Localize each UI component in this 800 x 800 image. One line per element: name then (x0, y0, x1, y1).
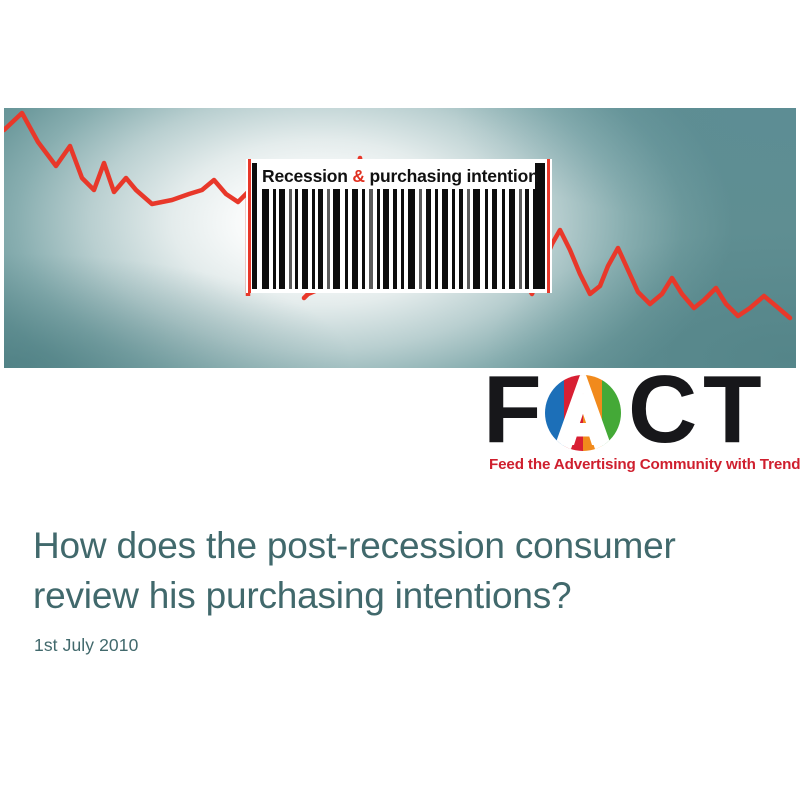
barcode-edge-line-left (248, 159, 251, 293)
fact-wordmark: F C T (487, 374, 790, 450)
fact-logo: F C T (487, 374, 790, 478)
barcode-headline: Recession & purchasing intention (262, 166, 536, 190)
barcode-guard-bar-left (252, 163, 257, 289)
title-block: How does the post-recession consumer rev… (33, 521, 763, 656)
barcode-graphic: Recession & purchasing intention (246, 159, 552, 293)
barcode-edge-line-right (547, 159, 550, 293)
logo-letter-a-disc-icon (544, 375, 622, 451)
page-date: 1st July 2010 (34, 635, 763, 656)
barcode-headline-ampersand: & (352, 166, 364, 186)
logo-letter-t: T (703, 362, 760, 458)
logo-letter-c: C (628, 362, 695, 458)
logo-tagline: Feed the Advertising Community with Tren… (489, 456, 800, 473)
logo-letter-f: F (483, 362, 540, 458)
barcode-headline-prefix: Recession (262, 166, 352, 186)
hero-banner: Recession & purchasing intention (4, 108, 796, 368)
barcode-headline-suffix: purchasing intention (365, 166, 539, 186)
page-title: How does the post-recession consumer rev… (33, 521, 743, 621)
